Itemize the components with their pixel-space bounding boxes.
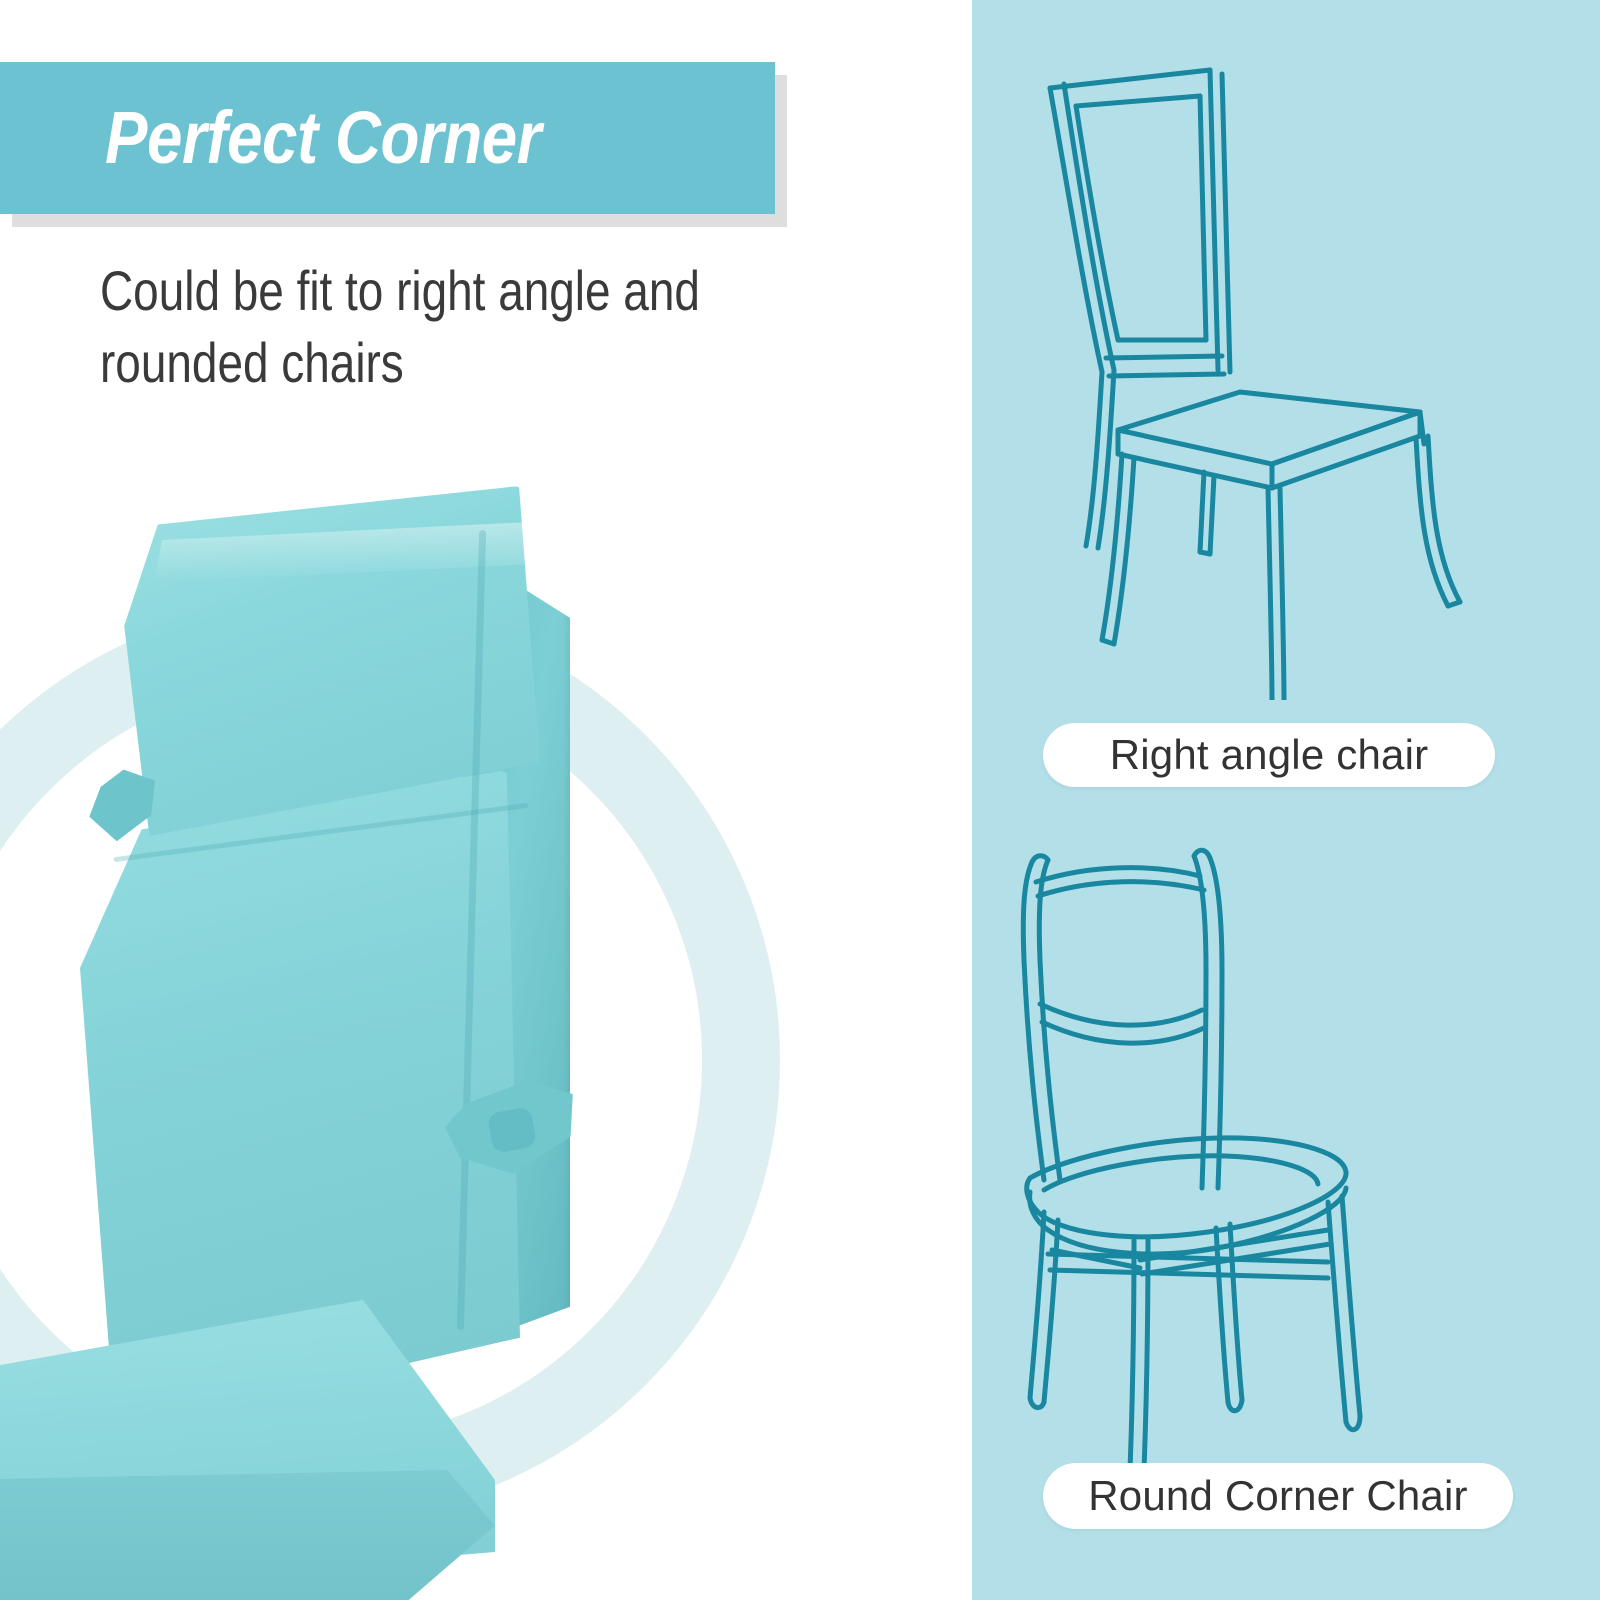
infographic-root: Perfect Corner Could be fit to right ang…	[0, 0, 1600, 1600]
label-right-angle-chair: Right angle chair	[1043, 723, 1495, 787]
right-angle-chair-icon	[972, 40, 1600, 700]
title-banner: Perfect Corner	[0, 62, 775, 214]
left-panel: Perfect Corner Could be fit to right ang…	[0, 0, 972, 1600]
round-corner-chair-icon	[972, 820, 1600, 1520]
cushion-seat-front-face	[0, 1470, 495, 1600]
right-panel: Right angle chair	[972, 0, 1600, 1600]
subtitle-text: Could be fit to right angle and rounded …	[100, 255, 789, 398]
label-round-corner-chair: Round Corner Chair	[1043, 1463, 1513, 1529]
page-title: Perfect Corner	[105, 101, 541, 175]
chair-cushion-photo	[0, 470, 670, 1500]
